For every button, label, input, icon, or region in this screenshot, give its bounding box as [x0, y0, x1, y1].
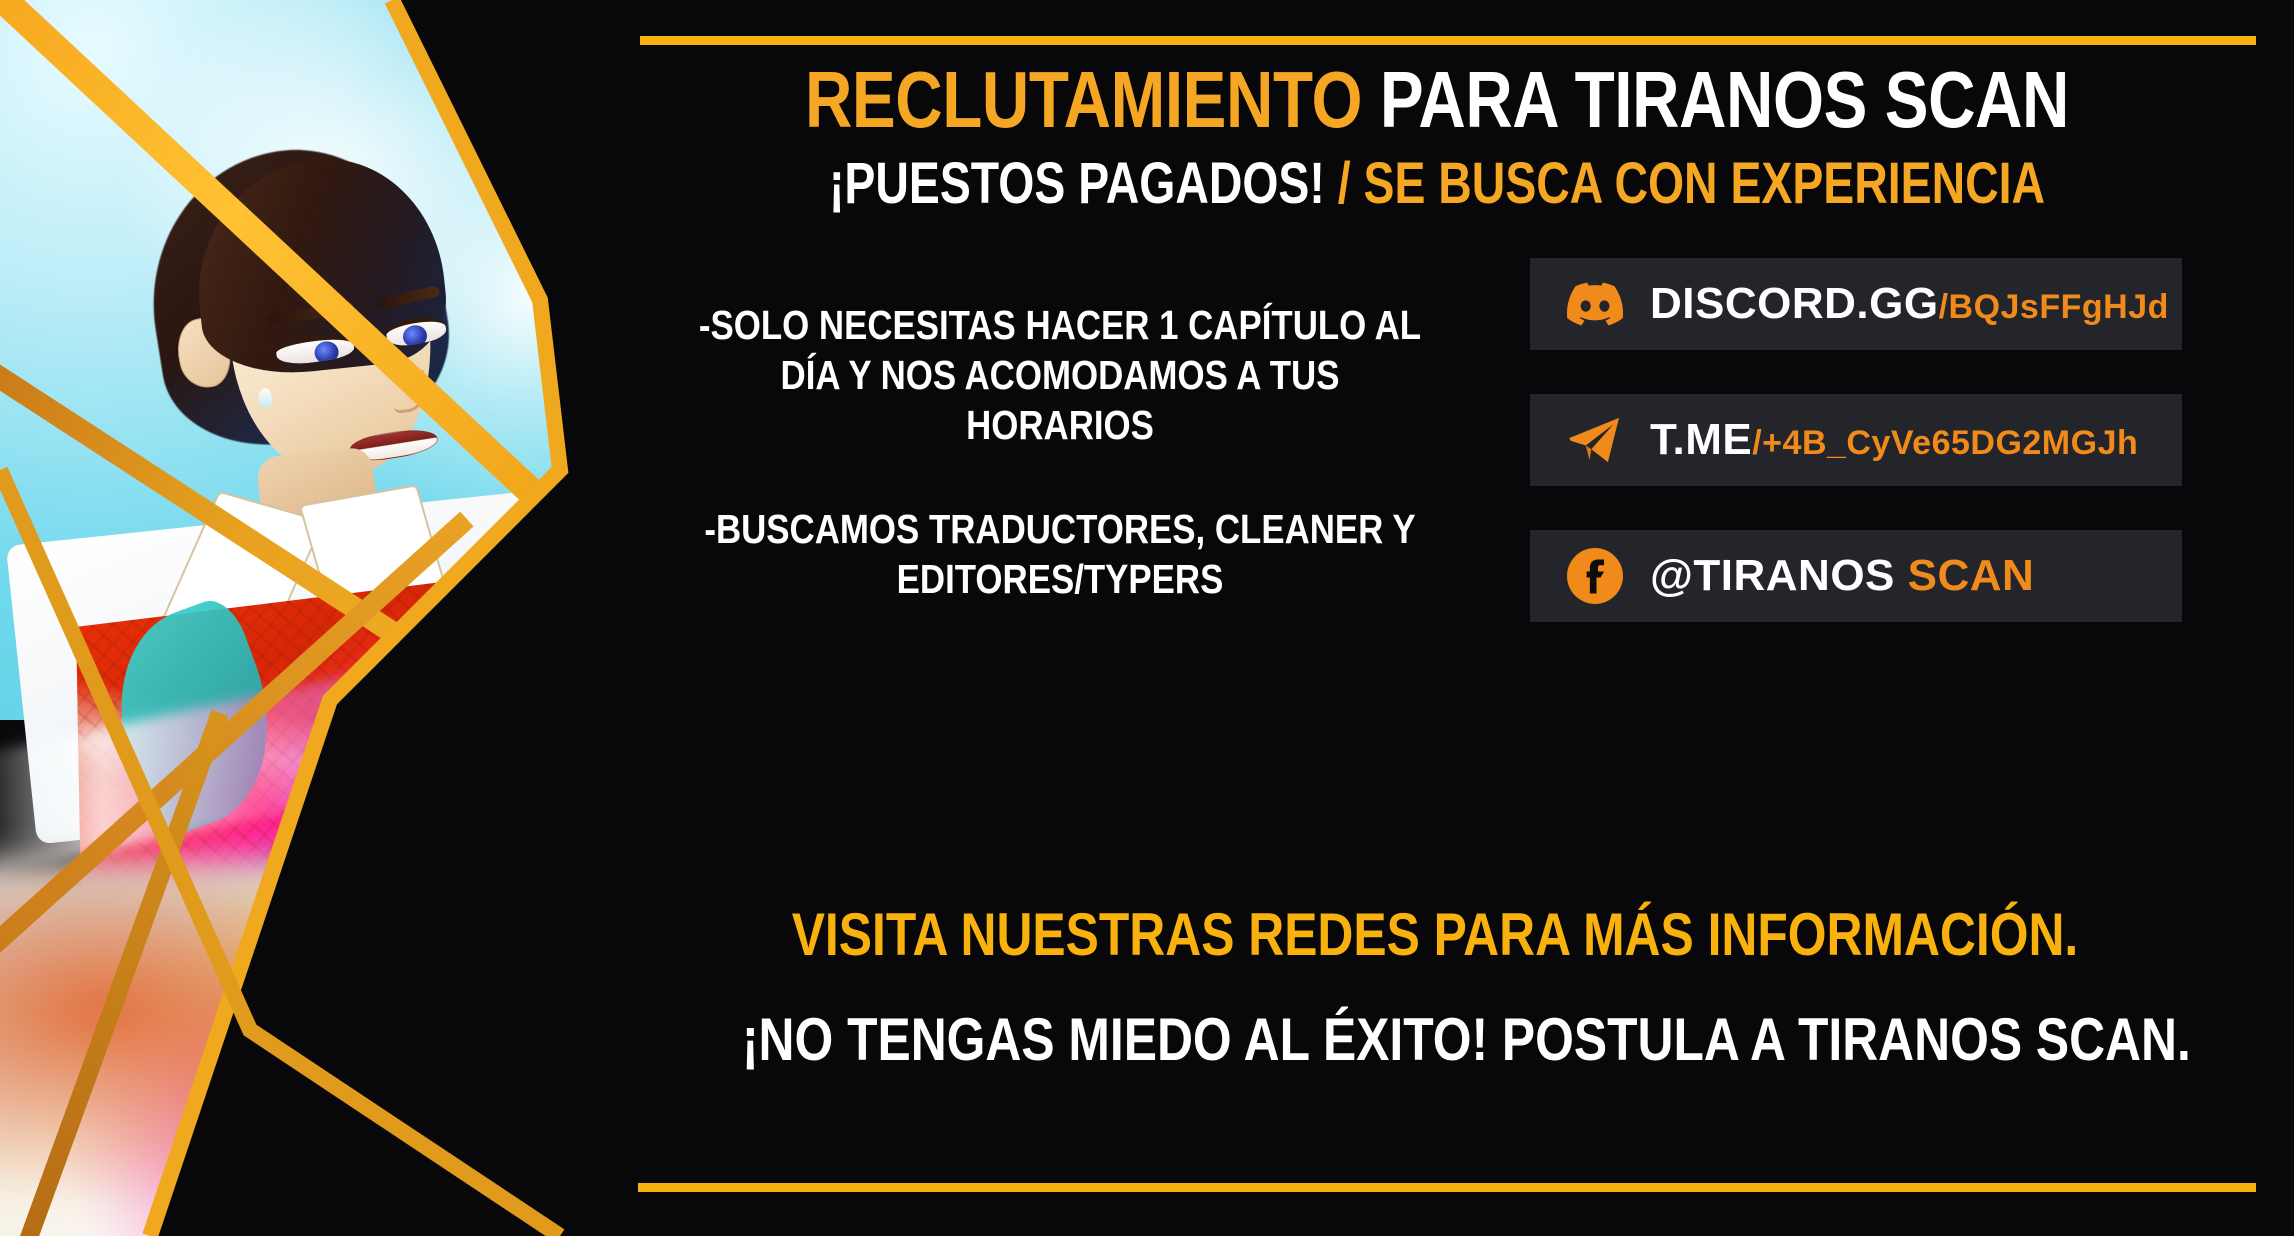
discord-domain: DISCORD.GG [1650, 279, 1939, 328]
subheadline-separator: / [1325, 151, 1364, 216]
telegram-invite-code: /+4B_CyVe65DG2MGJh [1752, 424, 2138, 462]
gold-rule-bottom [638, 1183, 2256, 1192]
contact-card-facebook-label: @TIRANOS SCAN [1650, 554, 2034, 598]
character-sweat-drop [258, 388, 272, 408]
page-subtitle: ¡PUESTOS PAGADOS! / SE BUSCA CON EXPERIE… [767, 155, 2106, 213]
gold-rule-top [640, 36, 2256, 45]
discord-invite-code: /BQJsFFgHJd [1939, 288, 2169, 326]
requirement-item-1: -SOLO NECESITAS HACER 1 CAPÍTULO AL DÍA … [686, 300, 1434, 450]
subheadline-part1: ¡PUESTOS PAGADOS! [829, 151, 1325, 216]
headline-part2: PARA TIRANOS SCAN [1362, 55, 2069, 144]
content-area: RECLUTAMIENTO PARA TIRANOS SCAN ¡PUESTOS… [600, 0, 2294, 1236]
contact-card-telegram-label: T.ME/+4B_CyVe65DG2MGJh [1650, 418, 2138, 462]
facebook-icon [1566, 547, 1624, 605]
contact-cards: DISCORD.GG/BQJsFFgHJd T.ME/+4B_CyVe65DG2… [1530, 258, 2182, 666]
contact-card-telegram[interactable]: T.ME/+4B_CyVe65DG2MGJh [1530, 394, 2182, 486]
recruitment-banner: RECLUTAMIENTO PARA TIRANOS SCAN ¡PUESTOS… [0, 0, 2294, 1236]
facebook-handle: @TIRANOS [1650, 551, 1895, 600]
artwork-panel [0, 0, 600, 1236]
requirements-list: -SOLO NECESITAS HACER 1 CAPÍTULO AL DÍA … [686, 300, 1434, 604]
headline-part1: RECLUTAMIENTO [805, 55, 1362, 144]
cta-line-1: VISITA NUESTRAS REDES PARA MÁS INFORMACI… [742, 905, 2128, 965]
cta-line-2: ¡NO TENGAS MIEDO AL ÉXITO! POSTULA A TIR… [742, 1010, 2128, 1070]
telegram-icon [1566, 411, 1624, 469]
subheadline-part2: SE BUSCA CON EXPERIENCIA [1364, 151, 2046, 216]
contact-card-discord[interactable]: DISCORD.GG/BQJsFFgHJd [1530, 258, 2182, 350]
requirement-item-2: -BUSCAMOS TRADUCTORES, CLEANER Y EDITORE… [686, 504, 1434, 604]
discord-icon [1566, 275, 1624, 333]
page-title: RECLUTAMIENTO PARA TIRANOS SCAN [751, 60, 2124, 140]
contact-card-facebook[interactable]: @TIRANOS SCAN [1530, 530, 2182, 622]
contact-card-discord-label: DISCORD.GG/BQJsFFgHJd [1650, 282, 2169, 326]
artwork-color-blur-field [0, 860, 600, 1236]
telegram-domain: T.ME [1650, 415, 1752, 464]
facebook-handle-suffix: SCAN [1895, 551, 2034, 600]
